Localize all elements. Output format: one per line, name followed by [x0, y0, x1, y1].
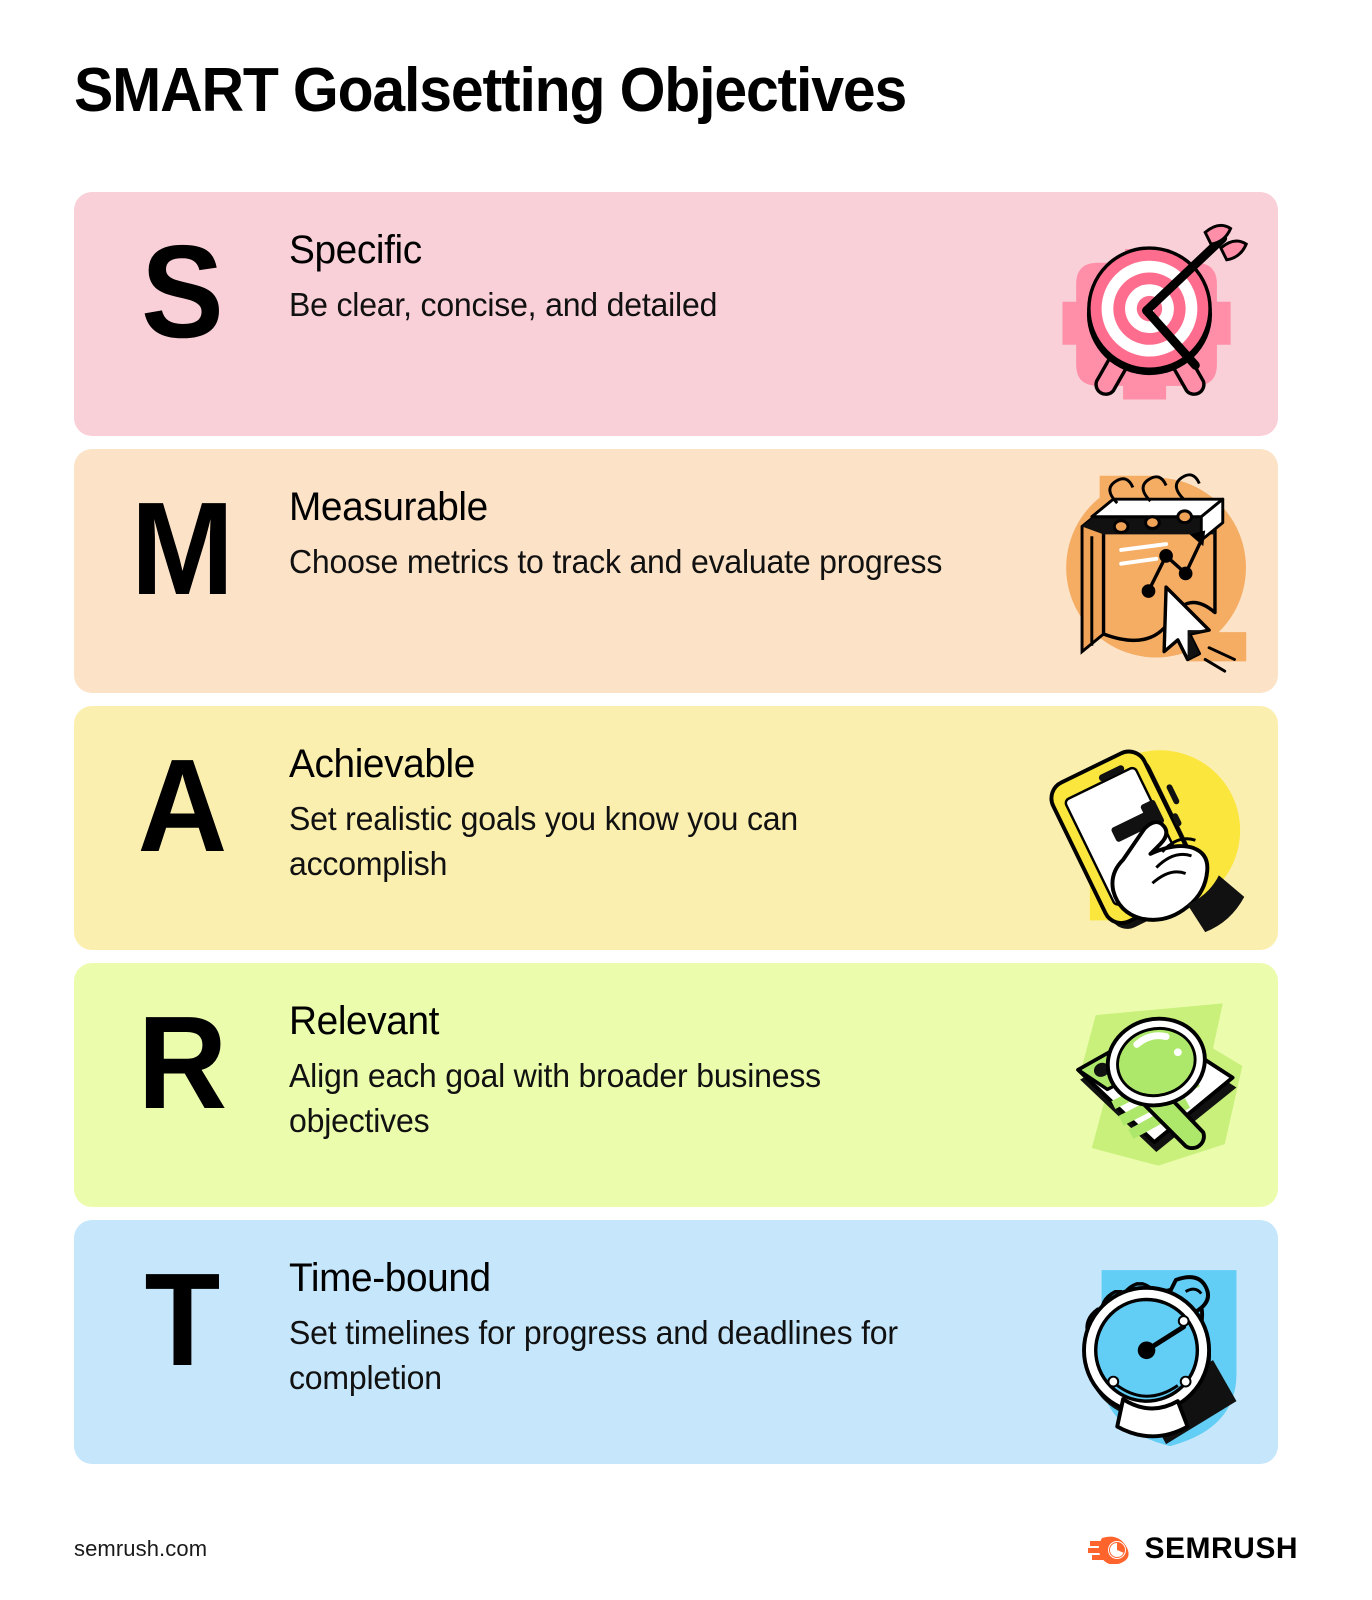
card-specific: S Specific Be clear, concise, and detail…	[74, 192, 1278, 436]
card-letter: T	[80, 1220, 282, 1386]
card-letter: M	[80, 449, 282, 615]
page-title: SMART Goalsetting Objectives	[74, 58, 906, 123]
card-time-bound: T Time-bound Set timelines for progress …	[74, 1220, 1278, 1464]
footer-url[interactable]: semrush.com	[74, 1536, 207, 1562]
card-heading: Specific	[289, 228, 949, 273]
card-text-block: Relevant Align each goal with broader bu…	[289, 963, 989, 1144]
card-heading: Achievable	[289, 742, 949, 787]
card-description: Choose metrics to track and evaluate pro…	[289, 540, 949, 585]
card-text-block: Measurable Choose metrics to track and e…	[289, 449, 989, 585]
card-heading: Measurable	[289, 485, 949, 530]
card-description: Align each goal with broader business ob…	[289, 1054, 949, 1144]
browser-magnifier-icon	[1041, 979, 1256, 1191]
target-arrow-icon	[1041, 208, 1256, 420]
card-achievable: A Achievable Set realistic goals you kno…	[74, 706, 1278, 950]
card-text-block: Specific Be clear, concise, and detailed	[289, 192, 989, 328]
card-text-block: Achievable Set realistic goals you know …	[289, 706, 989, 887]
card-description: Set timelines for progress and deadlines…	[289, 1311, 949, 1401]
semrush-wordmark: SEMRUSH	[1144, 1532, 1298, 1566]
infographic-page: SMART Goalsetting Objectives S Specific …	[0, 0, 1372, 1600]
footer: semrush.com SEMRUSH	[74, 1526, 1298, 1572]
smart-cards-list: S Specific Be clear, concise, and detail…	[74, 192, 1278, 1477]
card-letter: S	[80, 192, 282, 358]
semrush-logo[interactable]: SEMRUSH	[1088, 1532, 1298, 1566]
hand-phone-tap-icon	[1041, 722, 1256, 934]
card-letter: A	[80, 706, 282, 872]
calendar-chart-cursor-icon	[1041, 465, 1256, 677]
semrush-comet-icon	[1088, 1534, 1132, 1564]
hand-stopwatch-icon	[1041, 1236, 1256, 1448]
card-description: Set realistic goals you know you can acc…	[289, 797, 949, 887]
card-letter: R	[80, 963, 282, 1129]
card-measurable: M Measurable Choose metrics to track and…	[74, 449, 1278, 693]
card-heading: Relevant	[289, 999, 949, 1044]
card-heading: Time-bound	[289, 1256, 949, 1301]
card-text-block: Time-bound Set timelines for progress an…	[289, 1220, 989, 1401]
card-relevant: R Relevant Align each goal with broader …	[74, 963, 1278, 1207]
card-description: Be clear, concise, and detailed	[289, 283, 949, 328]
